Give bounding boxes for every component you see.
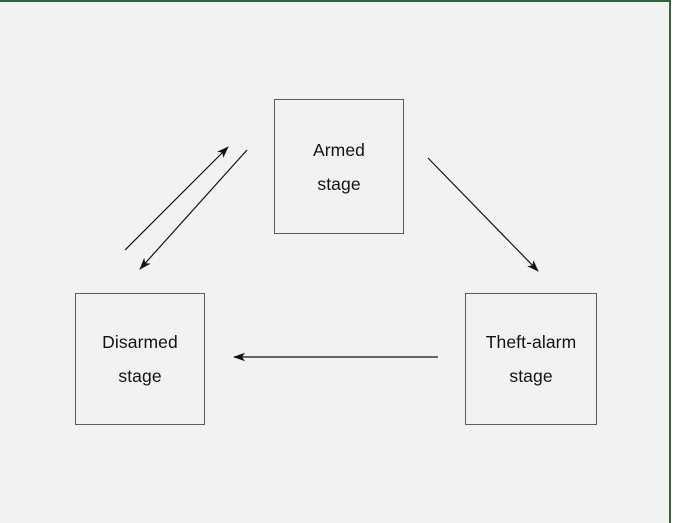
node-disarmed-stage-label-line2: stage: [118, 359, 161, 393]
node-armed-stage[interactable]: Armed stage: [274, 99, 404, 234]
node-theft-alarm-stage-label-line2: stage: [509, 359, 552, 393]
diagram-arrows: [0, 2, 671, 523]
node-disarmed-stage[interactable]: Disarmed stage: [75, 293, 205, 425]
node-armed-stage-label-line2: stage: [317, 167, 360, 201]
edge-armed-to-disarmed: [140, 150, 247, 269]
edge-disarmed-to-armed: [125, 147, 228, 250]
node-armed-stage-label-line1: Armed: [313, 133, 365, 167]
node-theft-alarm-stage-label-line1: Theft-alarm: [486, 325, 577, 359]
diagram-page: Armed stage Disarmed stage Theft-alarm s…: [0, 0, 674, 523]
edge-armed-to-theft-alarm: [428, 158, 538, 271]
node-theft-alarm-stage[interactable]: Theft-alarm stage: [465, 293, 597, 425]
diagram-canvas: Armed stage Disarmed stage Theft-alarm s…: [0, 0, 671, 523]
node-disarmed-stage-label-line1: Disarmed: [102, 325, 178, 359]
